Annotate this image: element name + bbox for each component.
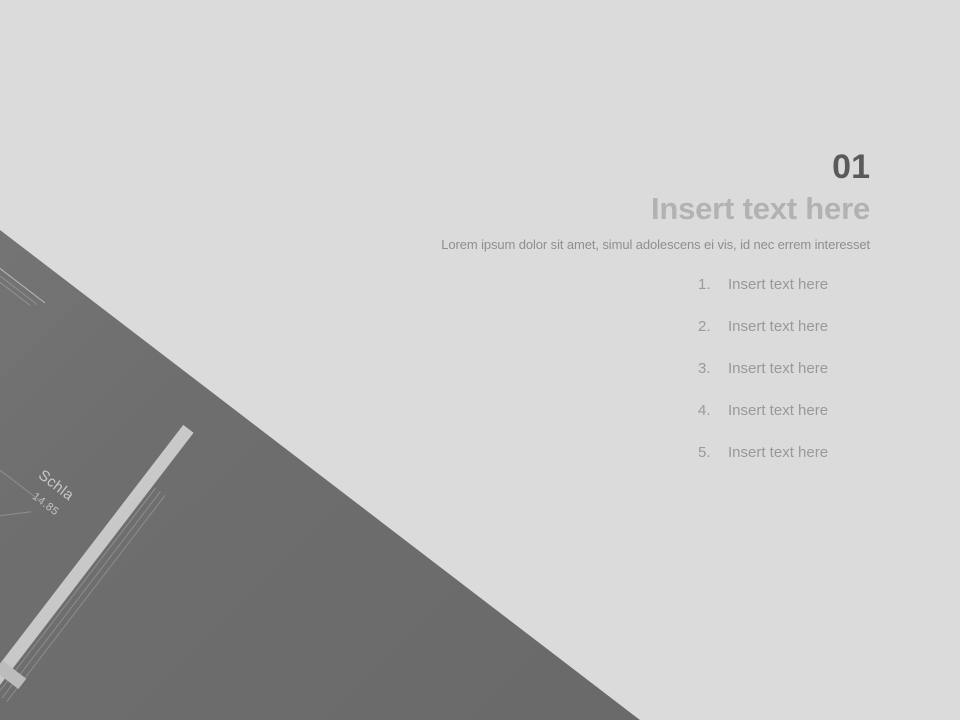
list-item-label: Insert text here	[728, 402, 828, 419]
slide-canvas: +2.90 3.21 m² Schla 14.85	[0, 0, 960, 720]
hatch-edge-line-3	[0, 56, 31, 306]
hatch-edge-line-2	[0, 52, 38, 305]
list-item[interactable]: 1. Insert text here	[380, 276, 870, 318]
furniture-bed-diagonal-2	[0, 511, 31, 535]
list-item[interactable]: 3. Insert text here	[380, 360, 870, 402]
list-item-number: 5.	[698, 444, 728, 461]
list-item-label: Insert text here	[728, 276, 828, 293]
list-item-number: 4.	[698, 402, 728, 419]
list-item-number: 3.	[698, 360, 728, 377]
hatch-edge-line	[0, 47, 45, 303]
wall-right-exterior	[0, 425, 194, 695]
hatch-band	[0, 0, 23, 229]
window-line-2	[2, 491, 161, 698]
window-line-3	[6, 495, 165, 702]
list-item[interactable]: 2. Insert text here	[380, 318, 870, 360]
page-title[interactable]: Insert text here	[380, 190, 870, 229]
subtitle-text[interactable]: Lorem ipsum dolor sit amet, simul adoles…	[380, 237, 870, 252]
content-text-block: 01 Insert text here Lorem ipsum dolor si…	[380, 150, 870, 486]
list-item-label: Insert text here	[728, 318, 828, 335]
list-item[interactable]: 4. Insert text here	[380, 402, 870, 444]
window-line-1	[0, 488, 156, 695]
numbered-list: 1. Insert text here 2. Insert text here …	[380, 276, 870, 486]
list-item-label: Insert text here	[728, 360, 828, 377]
list-item[interactable]: 5. Insert text here	[380, 444, 870, 486]
list-item-label: Insert text here	[728, 444, 828, 461]
slide-number: 01	[380, 150, 870, 184]
list-item-number: 1.	[698, 276, 728, 293]
list-item-number: 2.	[698, 318, 728, 335]
